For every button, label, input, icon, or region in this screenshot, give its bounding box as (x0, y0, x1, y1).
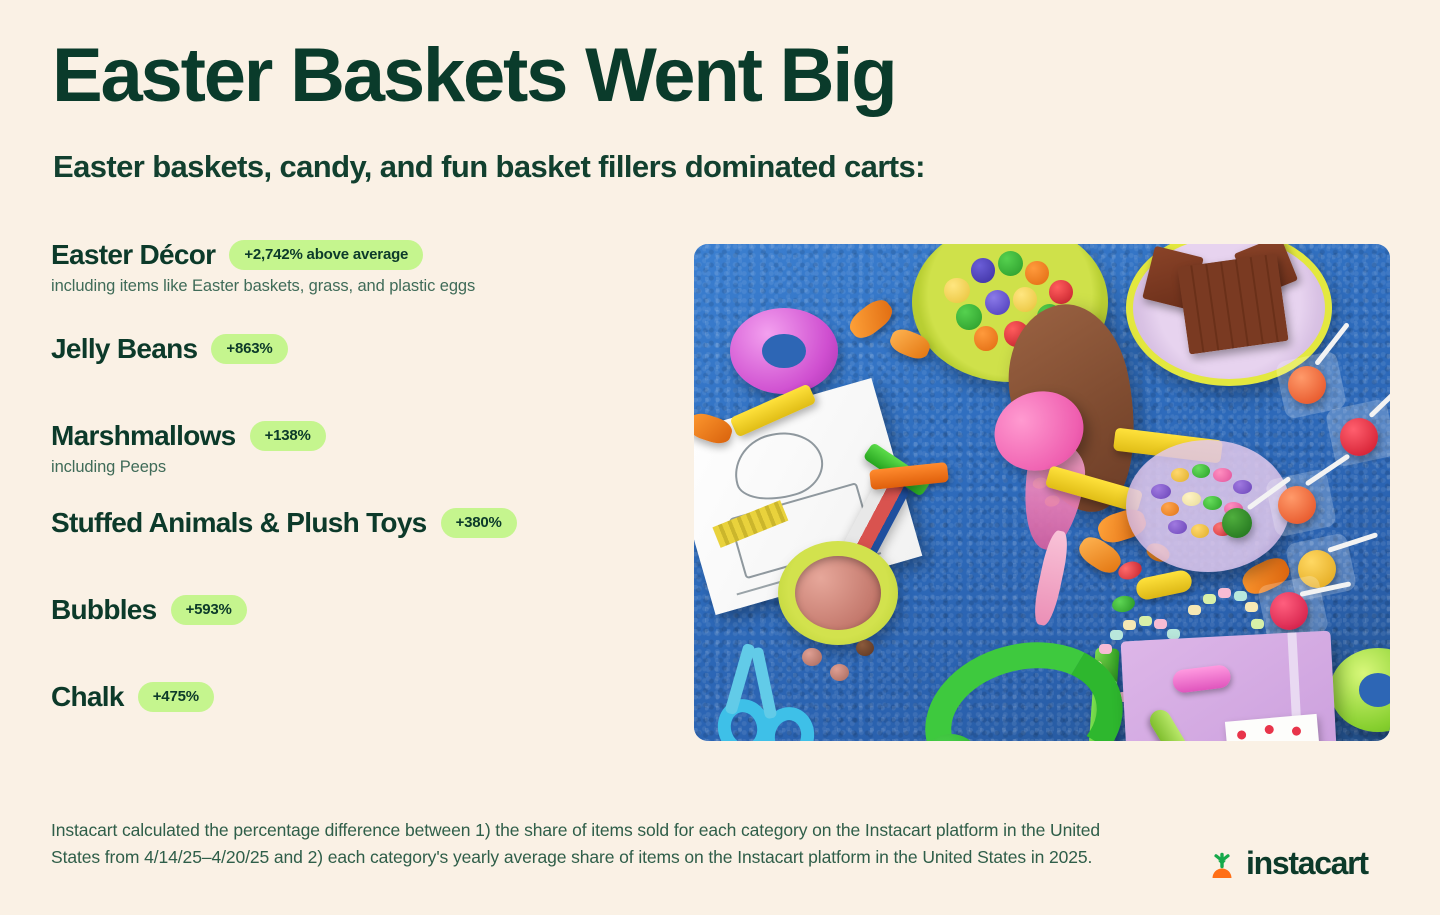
category-name: Bubbles (51, 595, 157, 626)
scissors (718, 659, 838, 741)
instacart-wordmark: instacart (1246, 845, 1368, 882)
chocolate-candy-bowl (778, 541, 898, 645)
category-note: including Peeps (51, 457, 326, 478)
green-hair-clip (1146, 706, 1191, 741)
list-item-marshmallows: Marshmallows +138% including Peeps (51, 421, 326, 477)
purple-notebook (1121, 631, 1338, 741)
category-name: Stuffed Animals & Plush Toys (51, 508, 427, 539)
methodology-footnote: Instacart calculated the percentage diff… (51, 817, 1121, 870)
category-name: Easter Décor (51, 240, 215, 271)
purple-scrunchie (730, 308, 838, 394)
page-subtitle: Easter baskets, candy, and fun basket fi… (53, 148, 925, 185)
list-item-easter-decor: Easter Décor +2,742% above average inclu… (51, 240, 475, 296)
status-badge: +593% (171, 595, 247, 625)
list-item-stuffed-animals: Stuffed Animals & Plush Toys +380% (51, 508, 517, 539)
easter-basket-photo (694, 244, 1390, 741)
strawberry-card (1225, 714, 1322, 741)
list-item-jelly-beans: Jelly Beans +863% (51, 334, 288, 365)
pink-hair-clip (1172, 664, 1232, 694)
status-badge: +863% (211, 334, 287, 364)
chocolate-bar (1177, 253, 1288, 354)
chocolate-candy (856, 640, 874, 656)
infographic-page: Easter Baskets Went Big Easter baskets, … (0, 0, 1440, 915)
status-badge: +2,742% above average (229, 240, 423, 270)
list-item-bubbles: Bubbles +593% (51, 595, 247, 626)
category-name: Chalk (51, 682, 124, 713)
jelly-bean-bowl (1126, 440, 1290, 572)
page-title: Easter Baskets Went Big (52, 36, 895, 116)
status-badge: +475% (138, 682, 214, 712)
list-item-chalk: Chalk +475% (51, 682, 214, 713)
category-name: Jelly Beans (51, 334, 197, 365)
category-name: Marshmallows (51, 421, 236, 452)
status-badge: +380% (441, 508, 517, 538)
instacart-logo: instacart (1205, 845, 1368, 882)
status-badge: +138% (250, 421, 326, 451)
category-note: including items like Easter baskets, gra… (51, 276, 475, 297)
carrot-icon (1205, 847, 1239, 881)
